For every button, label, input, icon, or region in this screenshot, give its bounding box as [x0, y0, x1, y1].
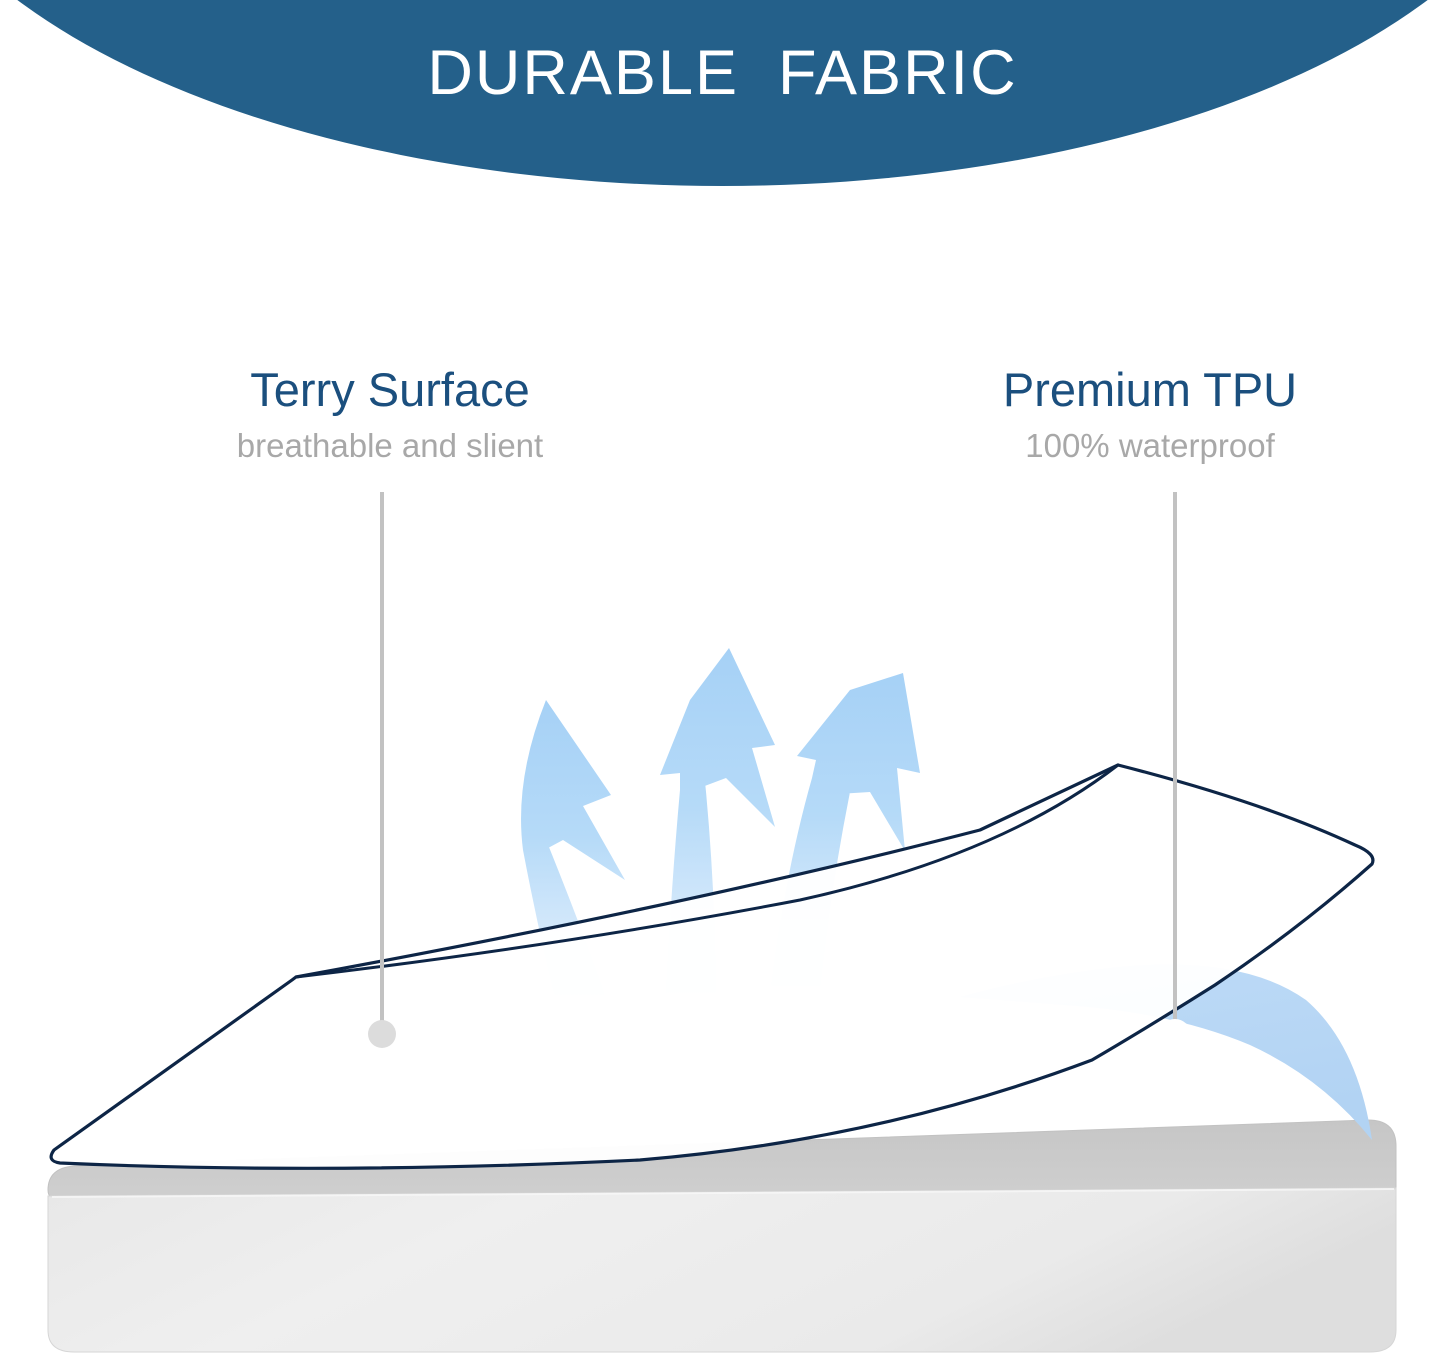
infographic-canvas: DURABLE FABRIC Terry Surface breathable …: [0, 0, 1445, 1353]
product-illustration: [0, 0, 1445, 1353]
marker-dot-premium-tpu: [1159, 1019, 1191, 1051]
marker-dot-terry-surface: [368, 1020, 396, 1048]
mattress-front-face: [48, 1188, 1396, 1352]
